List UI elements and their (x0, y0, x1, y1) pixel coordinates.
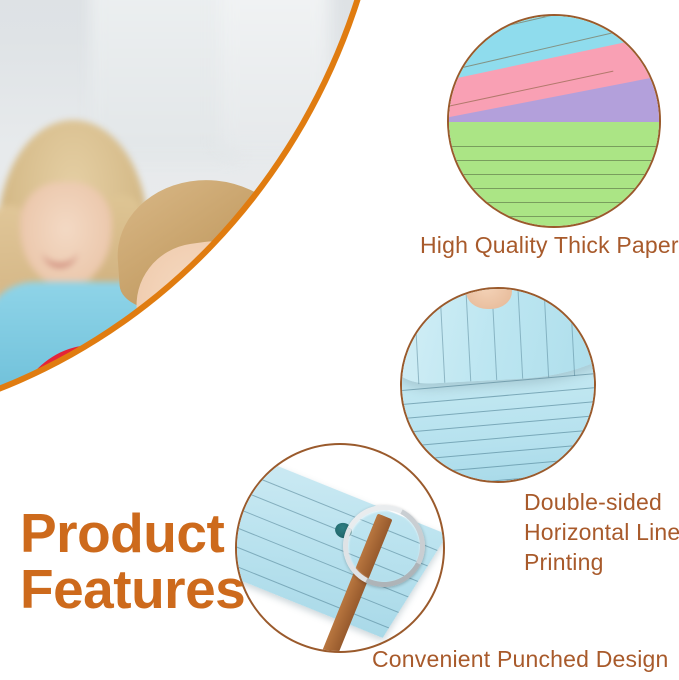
rule-line (447, 174, 661, 175)
rule-line (436, 287, 445, 383)
rule-line (447, 216, 661, 217)
rule-line (447, 188, 661, 189)
rule-line (514, 287, 523, 379)
caption-convenient-punched-design: Convenient Punched Design (372, 646, 669, 673)
caption-line-3: Printing (524, 549, 604, 575)
rule-line (447, 202, 661, 203)
wall-panel-secondary (220, 0, 330, 150)
feature-image-convenient-punched-design (235, 443, 445, 653)
rule-line (447, 160, 661, 161)
green-lined-card (447, 122, 661, 228)
flash-card-stack-pink (203, 351, 264, 430)
feature-image-double-sided-printing (400, 287, 596, 483)
feature-image-high-quality-thick-paper (447, 14, 661, 228)
boy-ear (261, 298, 287, 332)
caption-high-quality-thick-paper: High Quality Thick Paper (420, 232, 679, 259)
hero-classroom-photo (0, 0, 390, 430)
page-title-line-1: Product (20, 505, 245, 561)
rule-line (540, 287, 549, 377)
page-title: Product Features (20, 505, 245, 617)
caption-double-sided-printing: Double-sided Horizontal Line Printing (524, 487, 679, 577)
kraft-cover (217, 355, 263, 430)
hero-photo-clip (0, 0, 390, 430)
caption-line-1: Double-sided (524, 489, 662, 515)
caption-line-2: Horizontal Line (524, 519, 679, 545)
rule-line (592, 287, 596, 375)
page-title-line-2: Features (20, 561, 245, 617)
rule-line (566, 287, 575, 376)
product-features-infographic: High Quality Thick Paper Double-sided (0, 0, 679, 680)
colored-card-stack (447, 14, 661, 228)
rule-line (447, 146, 661, 147)
rule-line (410, 287, 419, 384)
